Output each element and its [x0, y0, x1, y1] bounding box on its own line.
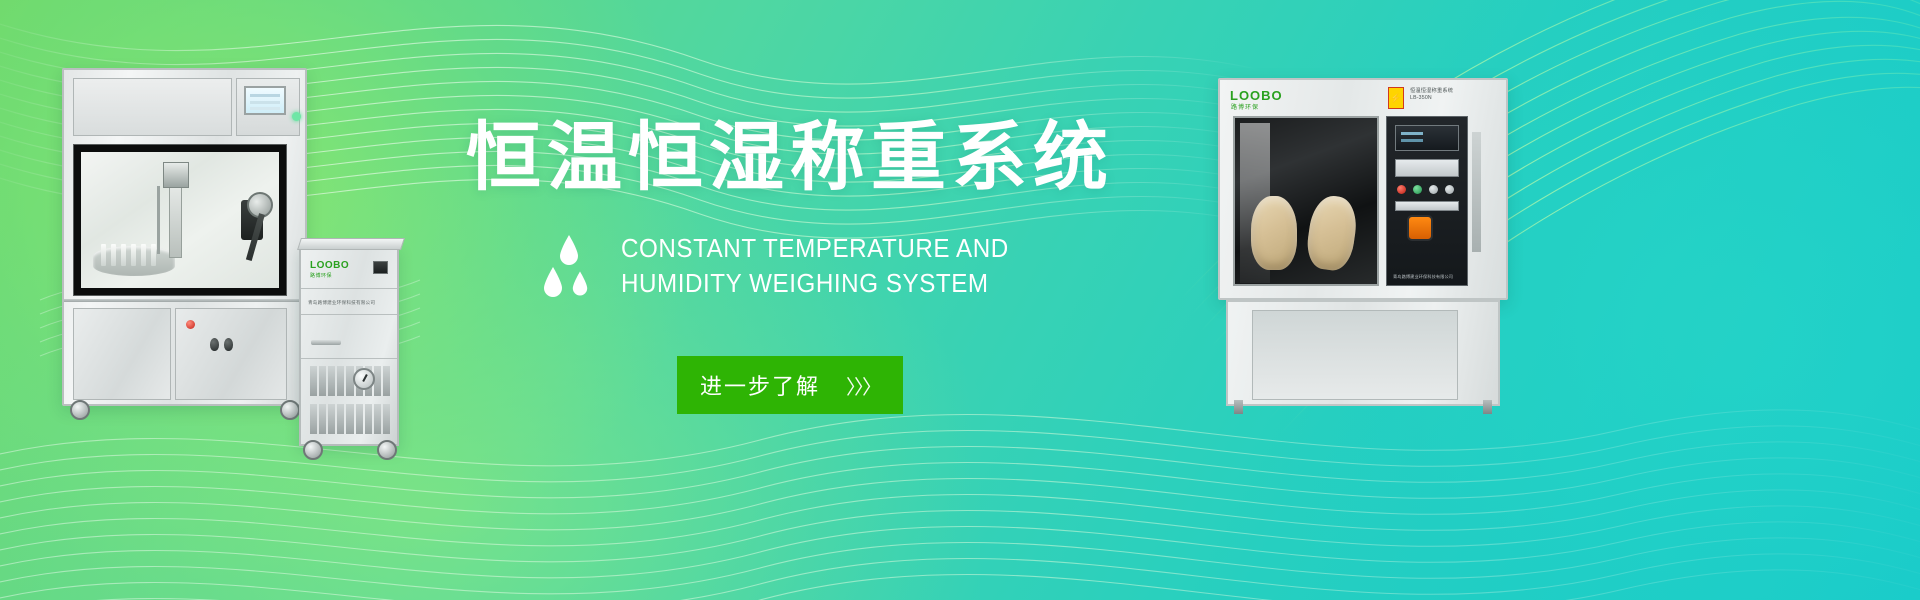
product-image-weighing-cabinet: LOOBO 路博环保 青岛路博建业环保科技有限公司: [62, 68, 414, 428]
caster-wheel: [377, 440, 397, 460]
product-image-test-chamber: LOOBO 路博环保 ⚡ 恒温恒湿称重系统 LB-350N: [1218, 78, 1508, 408]
start-button-icon: [1413, 185, 1422, 194]
reset-button-icon: [1429, 185, 1438, 194]
chamber-readout-screen: [1395, 159, 1459, 177]
subtitle-line-2: HUMIDITY WEIGHING SYSTEM: [621, 266, 1009, 301]
cabinet-knob: [224, 338, 233, 351]
emergency-indicator-icon: [186, 320, 195, 329]
subtitle-lines: CONSTANT TEMPERATURE AND HUMIDITY WEIGHI…: [621, 231, 1009, 301]
water-drop-large-icon: [559, 235, 579, 265]
chamber-body: LOOBO 路博环保 ⚡ 恒温恒湿称重系统 LB-350N: [1218, 78, 1508, 300]
power-indicator-icon: [292, 112, 301, 121]
chamber-display-screen: [1395, 125, 1459, 151]
chamber-model-line-1: 恒温恒湿称重系统: [1410, 88, 1466, 95]
cabinet-door-left: [73, 308, 171, 400]
glove-port: [1304, 193, 1360, 273]
pressure-gauge-icon: [353, 368, 375, 390]
sample-vial: [151, 244, 156, 266]
stand-foot: [1483, 400, 1492, 414]
chiller-top-bevel: [297, 238, 405, 250]
chamber-status-strip: [1395, 201, 1459, 211]
sample-vial: [141, 244, 146, 266]
chamber-control-panel: 青岛路博建业环保科技有限公司: [1386, 116, 1468, 286]
glove-port: [1251, 196, 1297, 270]
water-drop-small-icon: [572, 271, 588, 296]
aux-button-icon: [1445, 185, 1454, 194]
chiller-seam: [301, 288, 397, 289]
chamber-panel-note: 青岛路博建业环保科技有限公司: [1393, 274, 1465, 280]
cabinet-glass: [81, 152, 279, 288]
chamber-viewing-window: [1233, 116, 1379, 286]
cabinet-lcd-display: [244, 86, 286, 115]
gantry-head: [163, 162, 189, 188]
sample-vial: [121, 244, 126, 266]
chamber-brand-logo: LOOBO: [1230, 88, 1283, 103]
emergency-stop-knob-icon: [1407, 215, 1433, 241]
chiller-handle: [311, 340, 341, 345]
stand-recess: [1252, 310, 1458, 400]
chiller-seam: [301, 314, 397, 315]
chamber-stand: [1226, 300, 1500, 406]
chiller-brand-subtext: 路博环保: [310, 272, 332, 279]
water-drop-icon-group: [543, 235, 599, 297]
cabinet-viewing-window: [73, 144, 287, 296]
cabinet-divider: [64, 299, 305, 302]
chevron-right-icon: 〉〉〉: [846, 371, 880, 400]
chiller-unit: LOOBO 路博环保 青岛路博建业环保科技有限公司: [299, 246, 399, 446]
chiller-power-switch: [373, 261, 388, 274]
chamber-brand-subtext: 路博环保: [1231, 102, 1259, 111]
high-voltage-warning-icon: ⚡: [1388, 87, 1404, 109]
banner-content: 恒温恒湿称重系统 CONSTANT TEMPERATURE AND HUMIDI…: [470, 0, 1110, 600]
subtitle-line-1: CONSTANT TEMPERATURE AND: [621, 231, 1009, 266]
sample-vial: [111, 244, 116, 266]
chamber-side-vent: [1472, 132, 1481, 252]
cabinet-knob: [210, 338, 219, 351]
caster-wheel: [70, 400, 90, 420]
sample-vial: [131, 244, 136, 266]
chiller-vent-grille: [310, 366, 390, 396]
page-title: 恒温恒湿称重系统: [466, 120, 1114, 195]
chiller-brand-logo: LOOBO: [310, 260, 349, 271]
chiller-vent-grille: [310, 404, 390, 434]
caster-wheel: [280, 400, 300, 420]
chamber-model-label: 恒温恒湿称重系统 LB-350N: [1410, 88, 1466, 102]
stand-foot: [1234, 400, 1243, 414]
vertical-tube: [157, 186, 160, 254]
cabinet-body: [62, 68, 307, 406]
subtitle-block: CONSTANT TEMPERATURE AND HUMIDITY WEIGHI…: [543, 231, 1038, 301]
chiller-company-text: 青岛路博建业环保科技有限公司: [308, 300, 396, 306]
sample-vial: [101, 244, 106, 266]
learn-more-label: 进一步了解: [700, 369, 820, 401]
cabinet-top-panel: [73, 78, 232, 136]
chamber-model-line-2: LB-350N: [1410, 95, 1466, 102]
warning-glyph: ⚡: [1390, 94, 1401, 103]
learn-more-button[interactable]: 进一步了解 〉〉〉: [677, 356, 903, 414]
caster-wheel: [303, 440, 323, 460]
water-drop-medium-icon: [543, 267, 563, 297]
promo-banner: LOOBO 路博环保 青岛路博建业环保科技有限公司 恒温恒湿称重系统: [0, 0, 1920, 600]
stop-button-icon: [1397, 185, 1406, 194]
chiller-seam: [301, 358, 397, 359]
